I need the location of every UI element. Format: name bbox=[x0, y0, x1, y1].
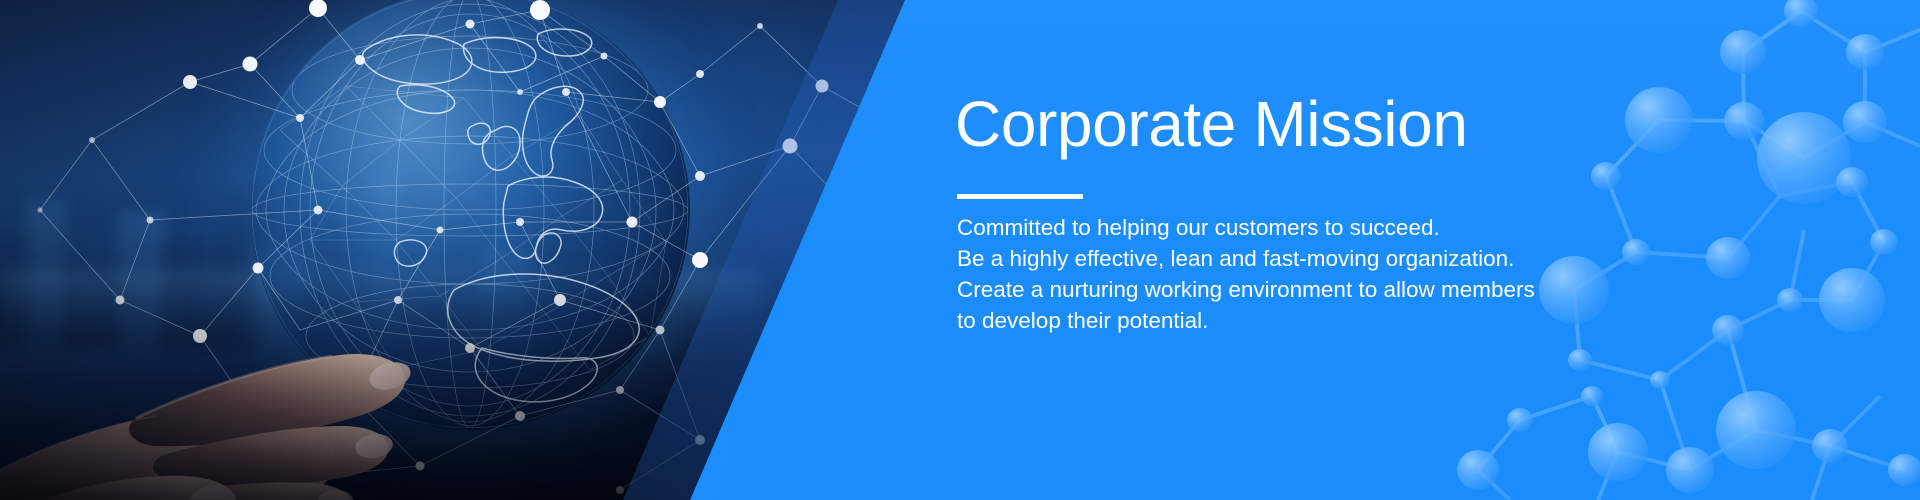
mission-line-1: Committed to helping our customers to su… bbox=[957, 212, 1637, 243]
banner-content: Corporate Mission Committed to helping o… bbox=[955, 0, 1855, 500]
page-title: Corporate Mission bbox=[955, 86, 1468, 162]
mission-line-2: Be a highly effective, lean and fast-mov… bbox=[957, 243, 1637, 274]
mission-line-4: to develop their potential. bbox=[957, 305, 1637, 336]
mission-line-3: Create a nurturing working environment t… bbox=[957, 274, 1637, 305]
mission-statement: Committed to helping our customers to su… bbox=[957, 212, 1637, 336]
corporate-mission-banner: Corporate Mission Committed to helping o… bbox=[0, 0, 1920, 500]
hand-illustration bbox=[0, 240, 520, 500]
title-underline-rule bbox=[957, 194, 1083, 199]
